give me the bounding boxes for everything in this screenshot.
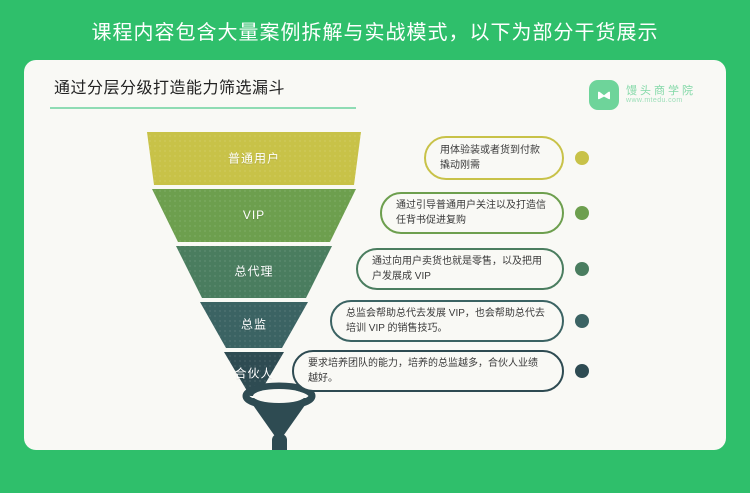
funnel-level-1 bbox=[147, 132, 361, 185]
callout-5-text: 要求培养团队的能力，培养的总监越多，合伙人业绩越好。 bbox=[294, 351, 562, 392]
logo-url: www.mtedu.com bbox=[626, 97, 696, 105]
callout-5-dot bbox=[575, 364, 589, 378]
callout-4-text: 总监会帮助总代去发展 VIP，也会帮助总代去培训 VIP 的销售技巧。 bbox=[332, 301, 562, 342]
callout-4-dot bbox=[575, 314, 589, 328]
callout-3-text: 通过向用户卖货也就是零售，以及把用户发展成 VIP bbox=[358, 249, 562, 290]
callout-3[interactable]: 通过向用户卖货也就是零售，以及把用户发展成 VIP bbox=[356, 248, 564, 290]
funnel-label-2: VIP bbox=[243, 208, 265, 222]
funnel-level-2 bbox=[152, 189, 356, 242]
logo-name: 馒头商学院 bbox=[626, 85, 696, 98]
title-underline bbox=[50, 107, 356, 109]
callout-2-text: 通过引导普通用户关注以及打造信任背书促进复购 bbox=[382, 193, 562, 234]
logo-m-icon bbox=[589, 80, 619, 110]
funnel-label-3: 总代理 bbox=[234, 263, 273, 280]
content-card: 通过分层分级打造能力筛选漏斗 bbox=[24, 60, 726, 450]
page-title: 通过分层分级打造能力筛选漏斗 bbox=[54, 74, 285, 98]
callout-2[interactable]: 通过引导普通用户关注以及打造信任背书促进复购 bbox=[380, 192, 564, 234]
header-title: 课程内容包含大量案例拆解与实战模式，以下为部分干货展示 bbox=[92, 16, 659, 45]
callout-2-dot bbox=[575, 206, 589, 220]
funnel-level-5 bbox=[224, 352, 284, 396]
callout-1[interactable]: 用体验装或者货到付款撬动刚需 bbox=[424, 136, 564, 180]
slide-root: 课程内容包含大量案例拆解与实战模式，以下为部分干货展示 通过分层分级打造能力筛选… bbox=[0, 0, 750, 493]
callout-3-dot bbox=[575, 262, 589, 276]
funnel-level-4 bbox=[200, 302, 308, 348]
brand-logo[interactable]: 馒头商学院 www.mtedu.com bbox=[589, 80, 696, 110]
page-header: 课程内容包含大量案例拆解与实战模式，以下为部分干货展示 bbox=[0, 0, 750, 60]
funnel-level-3 bbox=[176, 246, 332, 298]
callout-1-text: 用体验装或者货到付款撬动刚需 bbox=[426, 138, 562, 179]
funnel-label-5: 合伙人 bbox=[234, 365, 273, 382]
logo-text: 馒头商学院 www.mtedu.com bbox=[626, 85, 696, 106]
callout-1-dot bbox=[575, 151, 589, 165]
funnel-label-1: 普通用户 bbox=[228, 150, 280, 167]
funnel-spout-icon bbox=[246, 386, 312, 450]
callout-5[interactable]: 要求培养团队的能力，培养的总监越多，合伙人业绩越好。 bbox=[292, 350, 564, 392]
callout-4[interactable]: 总监会帮助总代去发展 VIP，也会帮助总代去培训 VIP 的销售技巧。 bbox=[330, 300, 564, 342]
funnel-label-4: 总监 bbox=[241, 316, 267, 333]
